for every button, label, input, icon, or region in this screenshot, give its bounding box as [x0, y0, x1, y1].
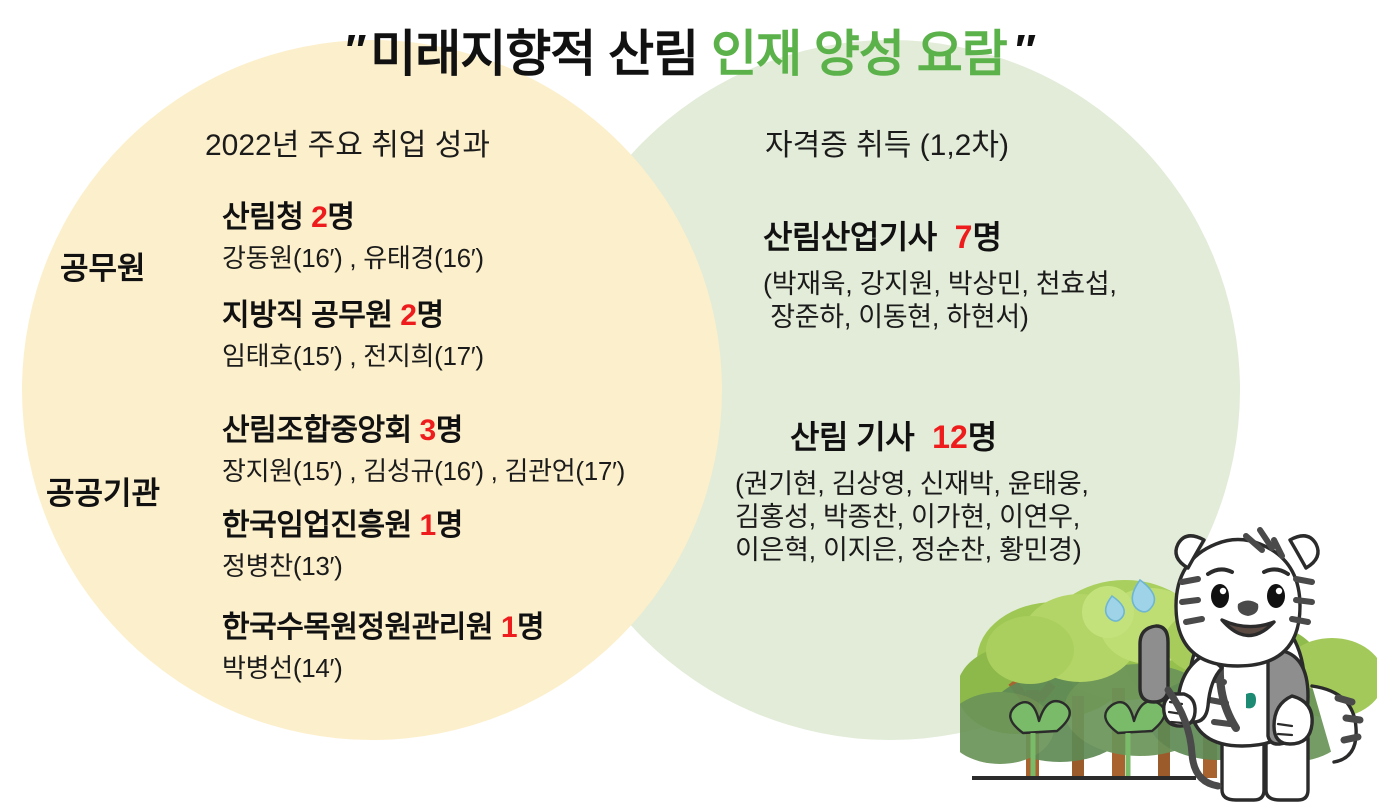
group-label-public-servant: 공무원 — [60, 243, 146, 288]
entry-unit: 명 — [436, 414, 464, 447]
certification-unit: 명 — [968, 419, 997, 455]
forest-tiger-mascot-illustration — [960, 500, 1377, 806]
entry-names: 장지원(15′) , 김성규(16′) , 김관언(17′) — [222, 451, 625, 488]
right-circle-heading: 자격증 취득 (1,2차) — [765, 120, 1009, 164]
quote-open-mark: ″ — [337, 26, 370, 75]
entry-unit: 명 — [436, 509, 464, 542]
employment-entry: 산림조합중앙회 3명 장지원(15′) , 김성규(16′) , 김관언(17′… — [222, 405, 625, 488]
employment-entry: 산림청 2명 강동원(16′) , 유태경(16′) — [222, 192, 484, 275]
entry-count: 3 — [420, 414, 436, 447]
left-circle-heading: 2022년 주요 취업 성과 — [205, 120, 490, 164]
certification-title-row: 산림 기사12명 — [735, 412, 1089, 458]
employment-entry: 지방직 공무원 2명 임태호(15′) , 전지희(17′) — [222, 290, 484, 373]
entry-names: 정병찬(13′) — [222, 546, 463, 583]
entry-unit: 명 — [517, 611, 545, 644]
entry-unit: 명 — [327, 201, 355, 234]
title-main-text: 미래지향적 산림 — [370, 26, 711, 82]
entry-count: 1 — [501, 611, 517, 644]
entry-names: 강동원(16′) , 유태경(16′) — [222, 238, 484, 275]
certification-unit: 명 — [972, 219, 1001, 255]
quote-close-mark: ″ — [1007, 26, 1040, 75]
eye-left — [1211, 584, 1229, 608]
entry-names: 박병선(14′) — [222, 648, 545, 685]
certification-count: 7 — [937, 219, 973, 255]
watering-can — [1140, 626, 1168, 702]
entry-unit: 명 — [416, 299, 444, 332]
employment-entry: 한국임업진흥원 1명 정병찬(13′) — [222, 500, 463, 583]
certification-entry: 산림산업기사7명 (박재욱, 강지원, 박상민, 천효섭, 장준하, 이동현, … — [763, 212, 1117, 334]
certification-name: 산림 기사 — [790, 419, 914, 455]
certification-count: 12 — [914, 419, 968, 455]
certification-name: 산림산업기사 — [763, 219, 937, 255]
entry-count: 2 — [400, 299, 416, 332]
page-title: ″미래지향적 산림 인재 양성 요람″ — [0, 14, 1377, 86]
group-label-public-institution: 공공기관 — [46, 468, 160, 513]
infographic-canvas: ″미래지향적 산림 인재 양성 요람″ 2022년 주요 취업 성과 자격증 취… — [0, 0, 1377, 806]
eye-right — [1267, 584, 1285, 608]
entry-count: 2 — [311, 201, 327, 234]
entry-org-name: 한국수목원정원관리원 — [222, 611, 501, 644]
title-accent-text: 인재 양성 요람 — [711, 26, 1007, 82]
entry-org-name: 지방직 공무원 — [222, 299, 400, 332]
entry-org-name: 한국임업진흥원 — [222, 509, 420, 542]
entry-org-name: 산림청 — [222, 201, 311, 234]
certification-names: (박재욱, 강지원, 박상민, 천효섭, 장준하, 이동현, 하현서) — [763, 268, 1117, 334]
entry-org-name: 산림조합중앙회 — [222, 414, 420, 447]
employment-entry: 한국수목원정원관리원 1명 박병선(14′) — [222, 602, 545, 685]
entry-names: 임태호(15′) , 전지희(17′) — [222, 336, 484, 373]
entry-count: 1 — [420, 509, 436, 542]
